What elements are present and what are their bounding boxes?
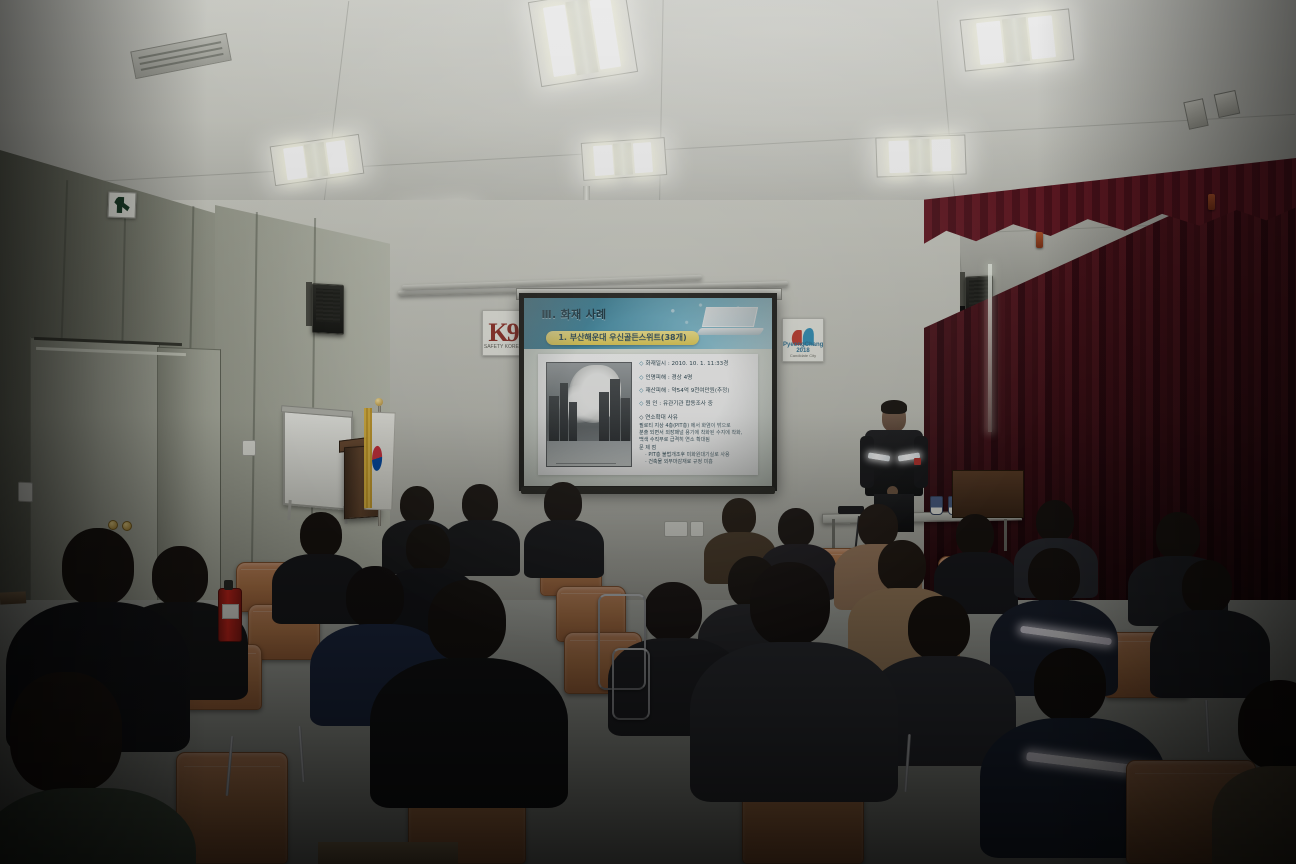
detail-lines: 필로티 지상 4층(PIT층) 에서 화염이 밖으로 분출 되면서 외장패널 용… <box>639 423 754 467</box>
side-podium <box>952 470 1024 518</box>
slide-bullets: ◇화재일시 : 2010. 10. 1. 11:33경 ◇인명피해 : 경상 4… <box>639 360 754 471</box>
projection-screen: Ⅲ. 화재 사례 1. 부산해운대 우신골든스위트(38개) <box>519 293 777 491</box>
laptop-graphic-icon <box>698 307 762 335</box>
exit-sign <box>108 192 137 219</box>
presenter-arm-left <box>860 436 874 488</box>
wall-outlet[interactable] <box>242 440 256 456</box>
fire-photo <box>546 362 632 467</box>
person-head <box>1028 548 1080 604</box>
problem-heading: 문 제 점 <box>639 445 754 452</box>
person-head <box>300 512 342 558</box>
person-head <box>1036 500 1074 542</box>
person-head <box>644 582 702 642</box>
person-shoulders <box>690 642 898 802</box>
presenter-hair <box>881 400 907 414</box>
person-head <box>1182 560 1232 614</box>
slide-content: Ⅲ. 화재 사례 1. 부산해운대 우신골든스위트(38개) <box>524 298 772 486</box>
person-head <box>908 596 970 660</box>
person-head <box>400 486 434 524</box>
k9-poster: K9 SAFETY KOREA <box>482 310 524 356</box>
person-shoulders <box>370 658 568 808</box>
person-head <box>428 580 506 662</box>
screen-surface: Ⅲ. 화재 사례 1. 부산해운대 우신골든스위트(38개) <box>524 298 772 486</box>
door-knob[interactable] <box>108 520 118 530</box>
person-head <box>152 546 208 606</box>
person-head <box>462 484 498 524</box>
curtain-tassel <box>1036 232 1043 248</box>
whiteboard[interactable] <box>283 409 353 511</box>
running-man-icon <box>114 196 130 213</box>
table-leg <box>1004 519 1007 551</box>
bullet-row: ◇화재일시 : 2010. 10. 1. 11:33경 <box>639 360 754 368</box>
person-head <box>878 540 926 592</box>
extinguisher-valve <box>224 580 233 590</box>
person-shoulders <box>442 520 520 576</box>
person-head <box>406 524 450 572</box>
wall-outlet-back-2[interactable] <box>690 521 704 537</box>
person-head <box>750 562 830 646</box>
security-sensor <box>1214 90 1241 118</box>
person-head <box>1034 648 1106 722</box>
person-head <box>722 498 756 536</box>
road <box>547 441 631 466</box>
jacket-badge <box>914 458 921 465</box>
person-shoulders <box>1150 610 1270 698</box>
slide-title: Ⅲ. 화재 사례 <box>541 306 606 322</box>
wall-speaker-left <box>312 283 344 335</box>
slide-body: ◇화재일시 : 2010. 10. 1. 11:33경 ◇인명피해 : 경상 4… <box>538 354 759 474</box>
flag-fringe <box>364 408 372 508</box>
curtain-tassel <box>1208 194 1215 210</box>
slide-subtitle: 1. 부산해운대 우신골든스위트(38개) <box>546 331 698 345</box>
fire-extinguisher-label <box>222 604 239 619</box>
light-switch[interactable] <box>18 482 33 503</box>
cup[interactable] <box>930 496 943 515</box>
desk-edge <box>318 842 458 864</box>
door-knob[interactable] <box>122 521 132 531</box>
wall-outlet-back[interactable] <box>664 521 688 537</box>
person-head <box>778 508 814 548</box>
auditorium-scene: K9 SAFETY KOREA PyeongChang 2018 Candida… <box>0 0 1296 864</box>
person-head <box>10 672 122 792</box>
chair-frame <box>612 648 650 720</box>
person-head <box>346 566 404 628</box>
curtain-light-gap <box>988 264 992 432</box>
wall-ledge <box>0 591 26 604</box>
bullet-row: ◇인명피해 : 경상 4명 <box>639 374 754 382</box>
person-head <box>62 528 134 606</box>
detail-heading: ◇ 연소확대 사유 <box>639 414 754 422</box>
pyeongchang-poster: PyeongChang 2018 Candidate City <box>782 318 824 362</box>
bullet-row: ◇재산피해 : 약54억 9천여만원(추정) <box>639 387 754 395</box>
person-head <box>956 514 994 556</box>
flag-finial <box>375 398 383 406</box>
person-head <box>1156 512 1200 560</box>
taeguk-symbol-icon <box>371 445 382 470</box>
person-shoulders <box>524 520 604 578</box>
bullet-row: ◇원 인 : 유관기관 합동조사 중 <box>639 400 754 408</box>
person-head <box>544 482 582 524</box>
